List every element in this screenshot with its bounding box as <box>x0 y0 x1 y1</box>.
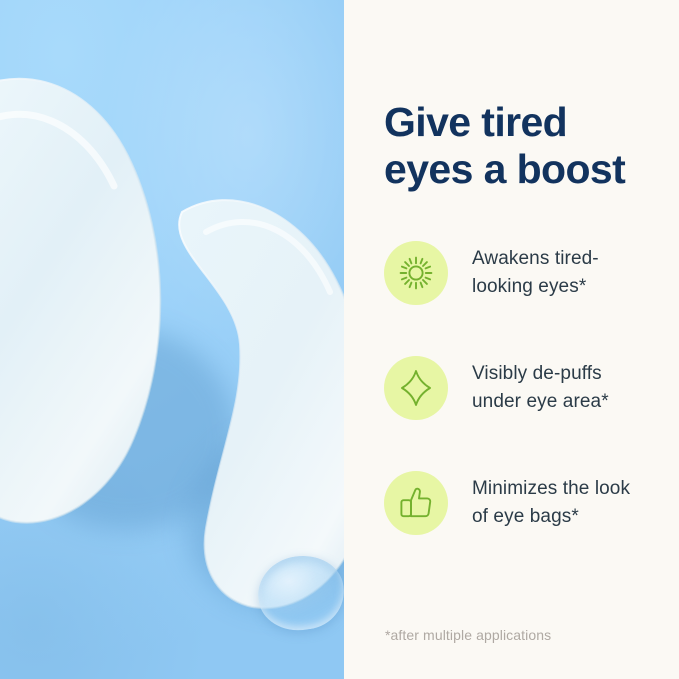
benefit-item-eye-bags: Minimizes the look of eye bags* <box>384 468 674 537</box>
benefit-label: Minimizes the look of eye bags* <box>472 475 630 531</box>
eye-patch-right <box>140 188 344 608</box>
benefit-item-awakens: Awakens tired- looking eyes* <box>384 238 674 307</box>
page-title: Give tired eyes a boost <box>384 99 669 193</box>
benefit-label: Awakens tired- looking eyes* <box>472 245 599 301</box>
diamond-sparkle-icon <box>384 356 448 420</box>
product-photo <box>0 0 344 679</box>
product-benefits-card: Give tired eyes a boost <box>0 0 679 679</box>
benefits-panel: Give tired eyes a boost <box>347 0 679 679</box>
thumbs-up-icon <box>384 471 448 535</box>
sun-icon <box>384 241 448 305</box>
footnote-disclaimer: *after multiple applications <box>385 626 551 644</box>
benefit-list: Awakens tired- looking eyes* Visibly de-… <box>384 238 674 537</box>
benefit-item-depuffs: Visibly de-puffs under eye area* <box>384 353 674 422</box>
benefit-label: Visibly de-puffs under eye area* <box>472 360 609 416</box>
